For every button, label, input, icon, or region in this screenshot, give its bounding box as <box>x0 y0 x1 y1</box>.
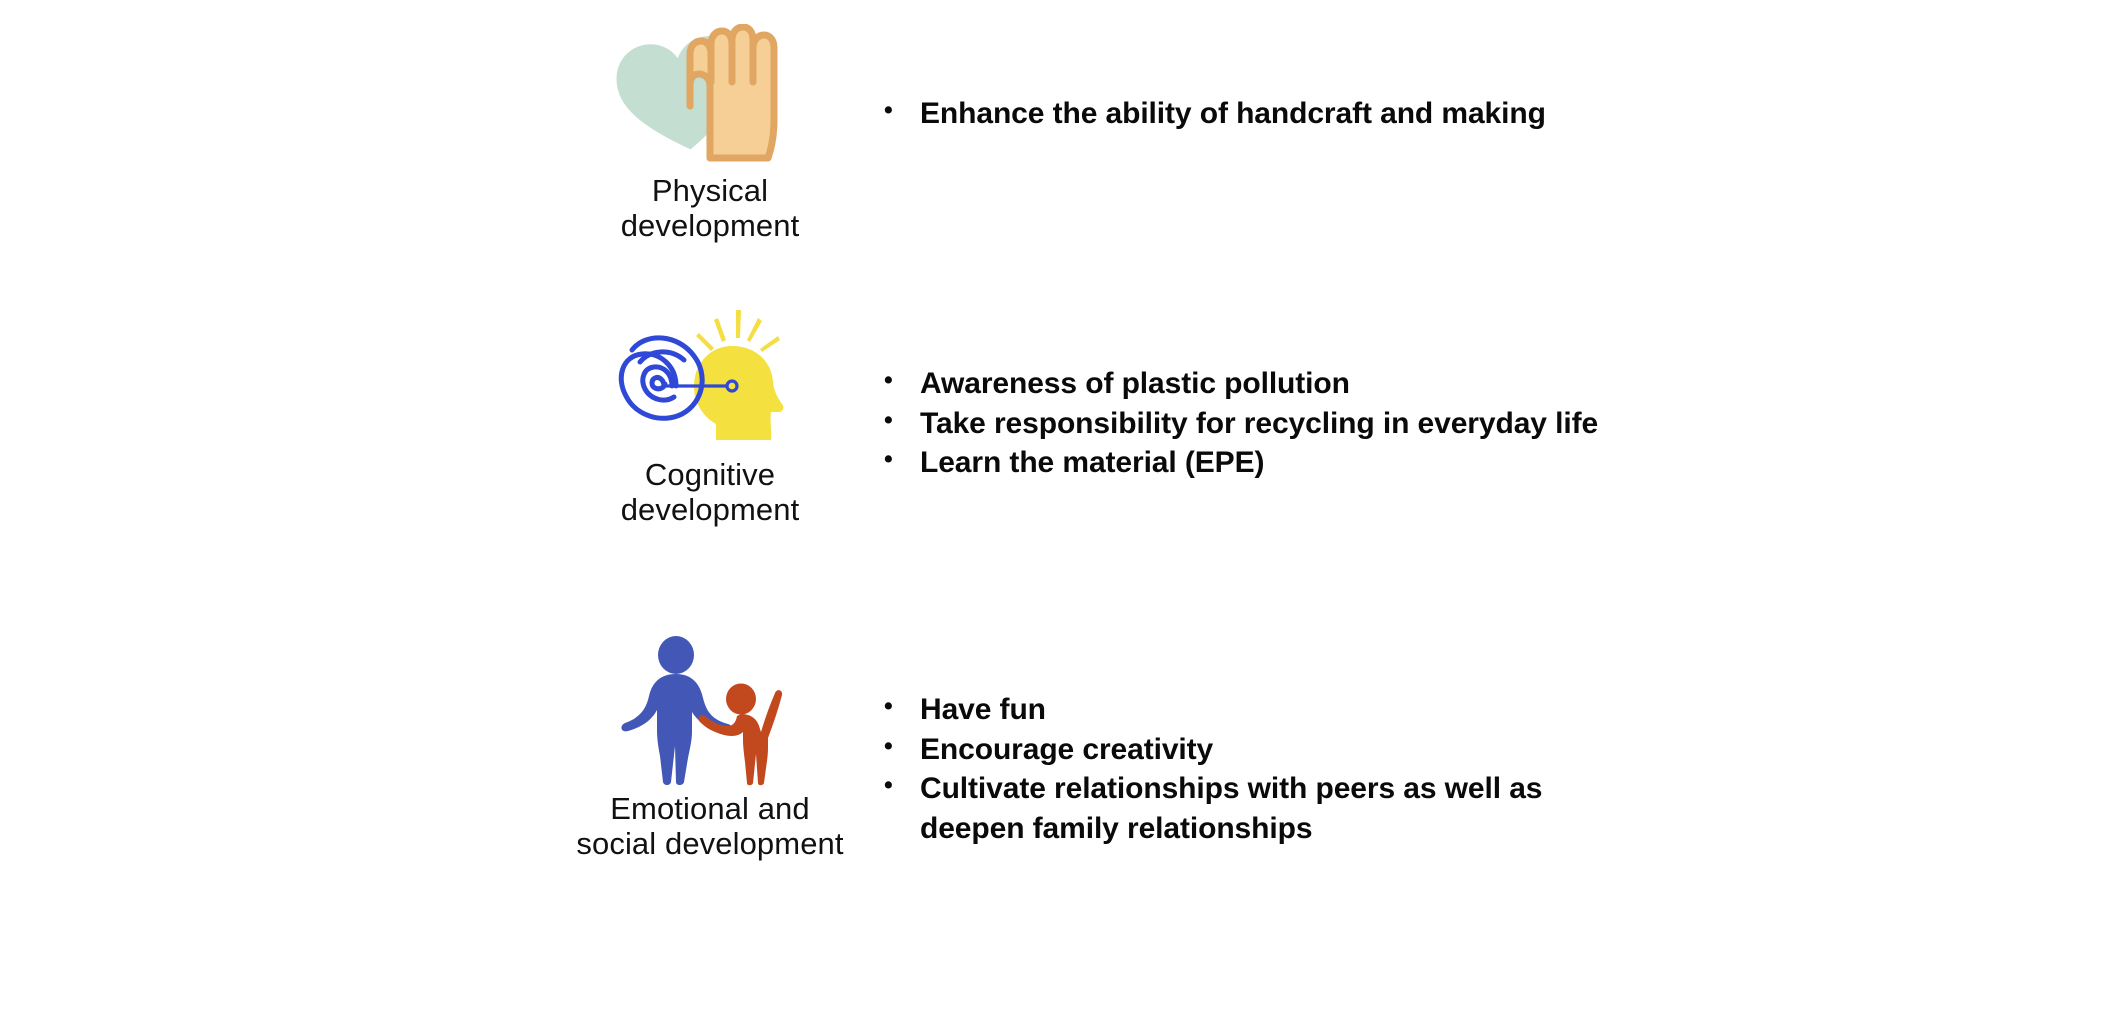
bullet-list-physical: Enhance the ability of handcraft and mak… <box>860 94 1546 134</box>
head-silhouette <box>694 346 783 440</box>
section-emotional-social-development: Emotional and social development Have fu… <box>560 636 1542 861</box>
connector-node <box>727 381 737 391</box>
icon-column-physical: Physical development <box>560 24 860 243</box>
bullet-list-emotional: Have fun Encourage creativity Cultivate … <box>860 690 1542 848</box>
labyrinth-maze <box>621 338 702 418</box>
section-cognitive-development: Cognitive development Awareness of plast… <box>560 300 1598 527</box>
bullet-list-cognitive: Awareness of plastic pollution Take resp… <box>860 364 1598 483</box>
section-label-physical: Physical development <box>621 174 800 243</box>
section-label-cognitive: Cognitive development <box>621 458 800 527</box>
adult-figure <box>621 636 732 785</box>
icon-column-emotional: Emotional and social development <box>560 636 860 861</box>
adult-and-child-icon <box>610 636 810 786</box>
bullet-item: Have fun <box>878 690 1542 730</box>
child-figure <box>699 684 783 786</box>
bullet-item: Learn the material (EPE) <box>878 443 1598 483</box>
maze-and-head-icon <box>610 300 810 450</box>
slide-canvas: Physical development Enhance the ability… <box>0 0 2120 1022</box>
idea-rays <box>696 310 780 352</box>
bullet-item: Awareness of plastic pollution <box>878 364 1598 404</box>
bullet-item: Encourage creativity <box>878 730 1542 770</box>
section-label-emotional: Emotional and social development <box>576 792 843 861</box>
bullet-item: Cultivate relationships with peers as we… <box>878 769 1542 848</box>
hand-and-heart-icon <box>610 24 810 164</box>
bullet-item: Take responsibility for recycling in eve… <box>878 404 1598 444</box>
bullet-item: Enhance the ability of handcraft and mak… <box>878 94 1546 134</box>
icon-column-cognitive: Cognitive development <box>560 300 860 527</box>
section-physical-development: Physical development Enhance the ability… <box>560 24 1546 243</box>
